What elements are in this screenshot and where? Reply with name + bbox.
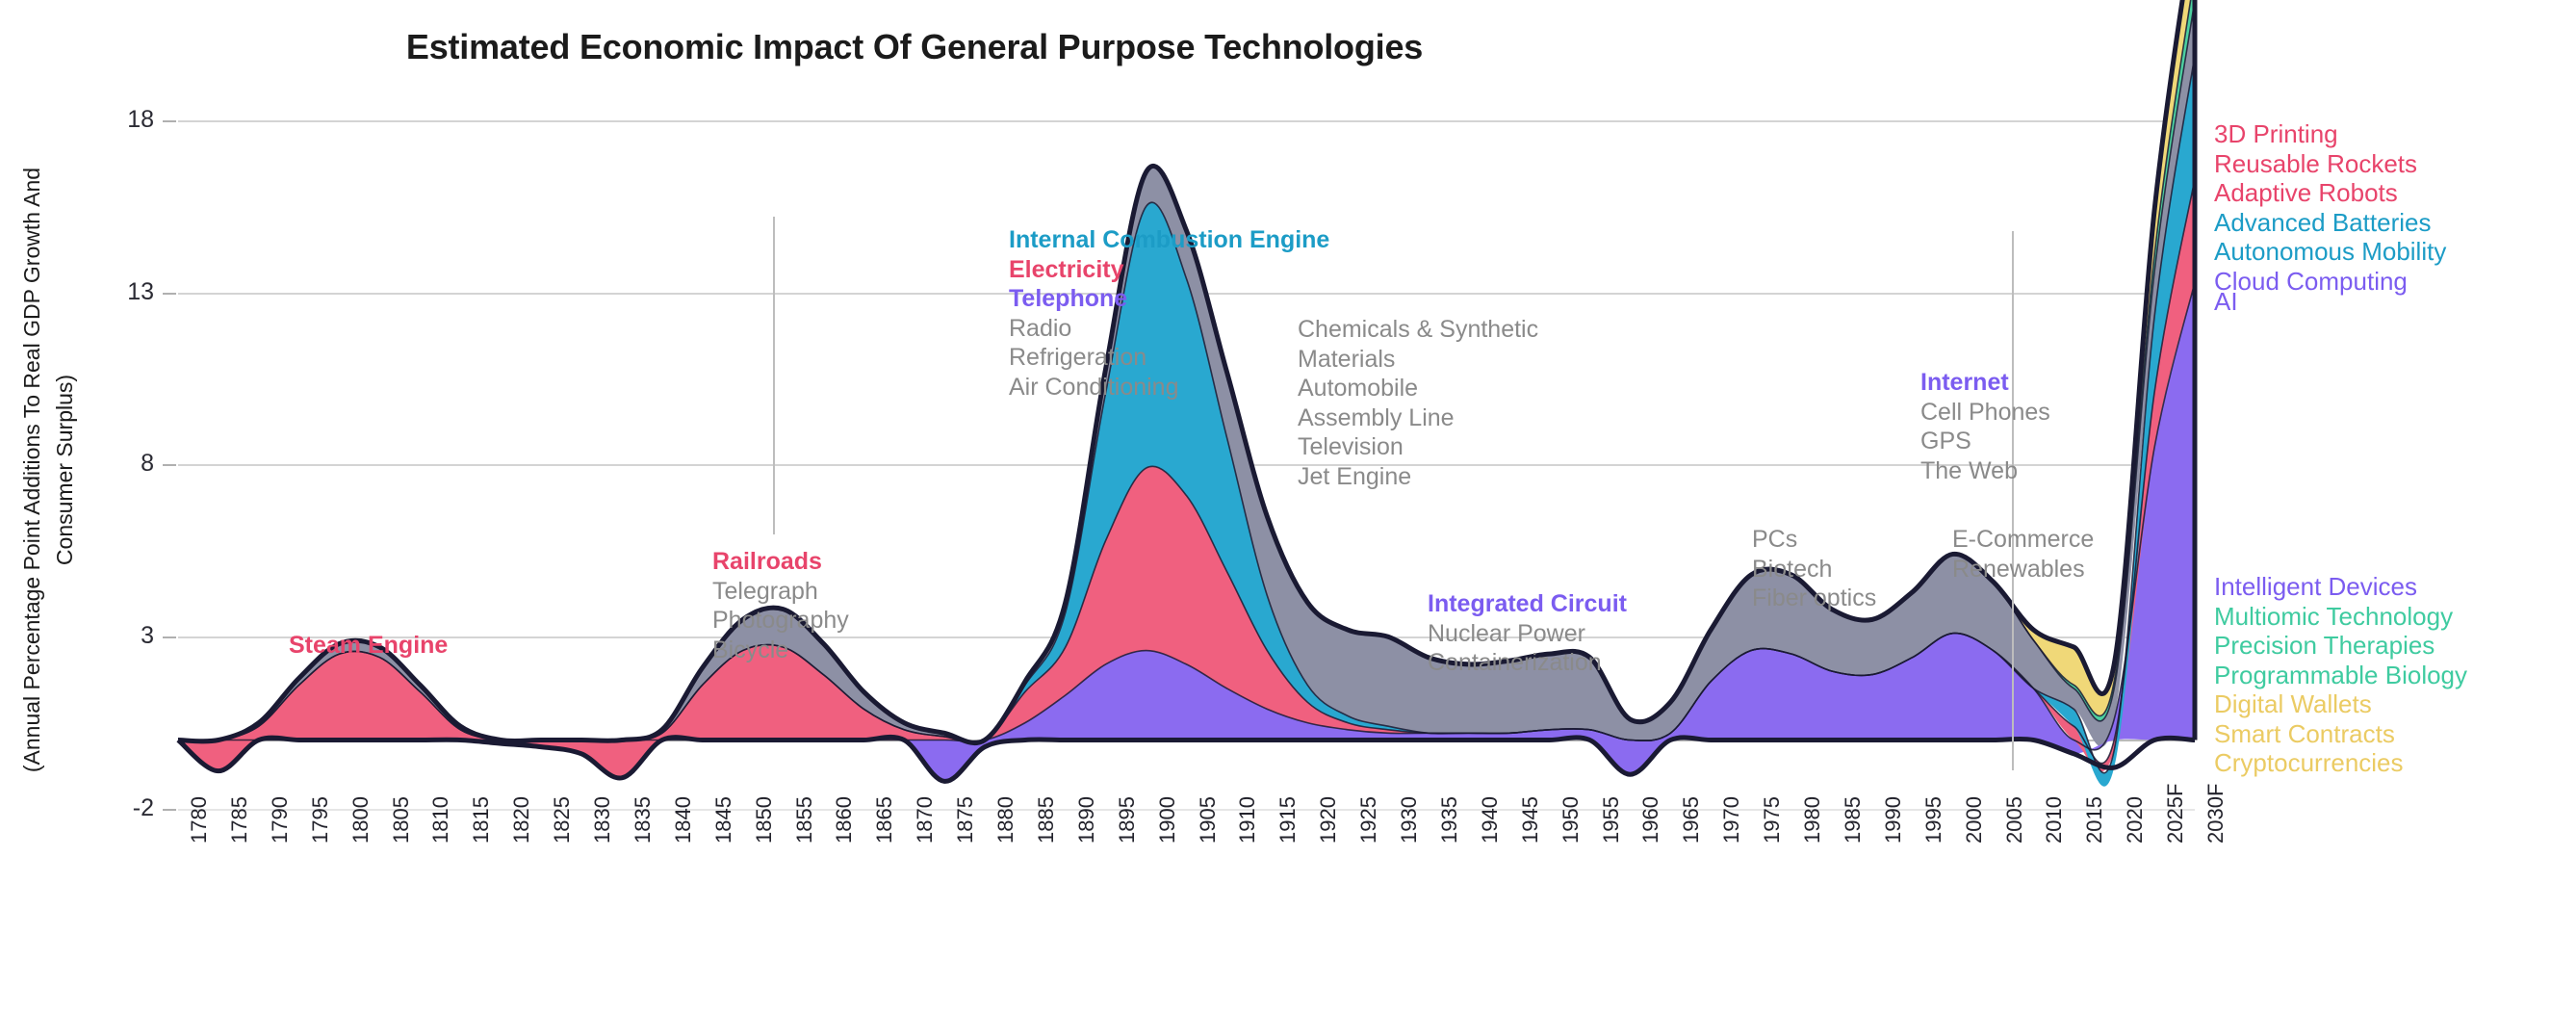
x-tick-1925: 1925 <box>1356 796 1381 844</box>
x-tick-1855: 1855 <box>792 796 817 844</box>
x-tick-1840: 1840 <box>671 796 696 844</box>
annotation-pcs: PCs Biotech Fiber optics <box>1752 525 1876 613</box>
annotation-internet: Internet Cell Phones GPS The Web <box>1920 368 2050 485</box>
annotation-chemicals-item-5: Jet Engine <box>1298 462 1538 492</box>
y-tick-13: 13 <box>87 278 154 306</box>
legend-item-multiomic-technology[interactable]: Multiomic Technology <box>2214 602 2467 632</box>
x-tick-1815: 1815 <box>469 796 494 844</box>
annotation-chemicals-item-3: Assembly Line <box>1298 403 1538 433</box>
annotation-railroads-item-1: Photography <box>712 606 849 636</box>
annotation-telephone-title: Telephone <box>1009 284 1329 314</box>
x-tick-1985: 1985 <box>1841 796 1866 844</box>
x-tick-1875: 1875 <box>953 796 978 844</box>
annotation-steam-engine: Steam Engine <box>289 631 448 661</box>
annotation-internet-title: Internet <box>1920 368 2050 398</box>
stacked-area-chart <box>178 120 2195 809</box>
x-tick-1800: 1800 <box>348 796 374 844</box>
annotation-ice-item-2: Air Conditioning <box>1009 373 1329 403</box>
x-tick-2000: 2000 <box>1962 796 1987 844</box>
x-tick-1850: 1850 <box>752 796 777 844</box>
divider-1915 <box>773 217 775 534</box>
annotation-chemicals-item-4: Television <box>1298 432 1538 462</box>
annotation-pcs-item-0: PCs <box>1752 525 1876 555</box>
x-tick-1920: 1920 <box>1316 796 1341 844</box>
x-tick-1890: 1890 <box>1074 796 1099 844</box>
x-tick-1935: 1935 <box>1437 796 1462 844</box>
legend-item-cloud-computing[interactable]: Cloud Computing <box>2214 267 2446 297</box>
x-tick-1965: 1965 <box>1679 796 1704 844</box>
x-tick-1940: 1940 <box>1478 796 1503 844</box>
annotation-internal-combustion: Internal Combustion Engine Electricity T… <box>1009 225 1329 402</box>
x-tick-1950: 1950 <box>1558 796 1584 844</box>
x-tick-1820: 1820 <box>509 796 534 844</box>
y-tick-8: 8 <box>87 450 154 478</box>
annotation-pcs-item-1: Biotech <box>1752 555 1876 584</box>
annotation-chemicals-item-2: Automobile <box>1298 374 1538 403</box>
plot-area <box>178 120 2195 809</box>
x-tick-1870: 1870 <box>913 796 938 844</box>
x-tick-1845: 1845 <box>711 796 736 844</box>
x-tick-1960: 1960 <box>1638 796 1663 844</box>
x-tick-2030F: 2030F <box>2203 784 2228 844</box>
annotation-railroads-item-0: Telegraph <box>712 577 849 607</box>
annotation-railroads: Railroads Telegraph Photography Bicycle <box>712 547 849 664</box>
x-tick-1915: 1915 <box>1275 796 1301 844</box>
y-tick-18: 18 <box>87 106 154 134</box>
legend-item-ai[interactable]: AI <box>2214 287 2238 317</box>
x-tick-1900: 1900 <box>1155 796 1180 844</box>
annotation-integrated-circuit: Integrated Circuit Nuclear Power Contain… <box>1428 589 1627 678</box>
x-tick-1905: 1905 <box>1196 796 1221 844</box>
annotation-internet-item-1: GPS <box>1920 427 2050 456</box>
y-tick-minus2: -2 <box>87 794 154 822</box>
annotation-chemicals-item-0: Chemicals & Synthetic <box>1298 315 1538 345</box>
x-tick-1945: 1945 <box>1518 796 1543 844</box>
annotation-railroads-title: Railroads <box>712 547 849 577</box>
x-tick-1780: 1780 <box>187 796 212 844</box>
x-tick-1930: 1930 <box>1397 796 1422 844</box>
x-tick-1880: 1880 <box>993 796 1018 844</box>
x-tick-1975: 1975 <box>1760 796 1785 844</box>
y-tick-dash-minus2 <box>163 809 176 811</box>
legend-top-group: 3D Printing Reusable Rockets Adaptive Ro… <box>2214 119 2446 296</box>
legend-item-smart-contracts[interactable]: Smart Contracts <box>2214 719 2467 749</box>
annotation-steam-engine-title: Steam Engine <box>289 631 448 661</box>
divider-2020 <box>2012 231 2014 770</box>
x-tick-1785: 1785 <box>227 796 252 844</box>
legend-item-3d-printing[interactable]: 3D Printing <box>2214 119 2446 149</box>
annotation-ic-item-0: Nuclear Power <box>1428 619 1627 649</box>
x-tick-1980: 1980 <box>1800 796 1825 844</box>
x-tick-1790: 1790 <box>268 796 293 844</box>
annotation-ic-item-1: Containerization <box>1428 648 1627 678</box>
x-tick-1810: 1810 <box>428 796 453 844</box>
legend-item-reusable-rockets[interactable]: Reusable Rockets <box>2214 149 2446 179</box>
annotation-ecommerce: E-Commerce Renewables <box>1952 525 2094 584</box>
annotation-internet-item-0: Cell Phones <box>1920 398 2050 428</box>
legend-item-precision-therapies[interactable]: Precision Therapies <box>2214 631 2467 661</box>
x-tick-1865: 1865 <box>872 796 897 844</box>
y-tick-3: 3 <box>87 622 154 650</box>
x-tick-2015: 2015 <box>2082 796 2107 844</box>
annotation-railroads-item-2: Bicycle <box>712 636 849 665</box>
x-tick-2020: 2020 <box>2123 796 2148 844</box>
x-tick-1885: 1885 <box>1034 796 1059 844</box>
annotation-integrated-circuit-title: Integrated Circuit <box>1428 589 1627 619</box>
y-tick-dash-3 <box>163 636 176 638</box>
x-tick-2005: 2005 <box>2002 796 2027 844</box>
x-tick-1970: 1970 <box>1719 796 1744 844</box>
x-tick-1990: 1990 <box>1881 796 1906 844</box>
y-axis-label: (Annual Percentage Point Additions To Re… <box>25 143 67 778</box>
annotation-chemicals-item-1: Materials <box>1298 345 1538 375</box>
legend-item-programmable-biology[interactable]: Programmable Biology <box>2214 661 2467 690</box>
x-tick-1910: 1910 <box>1235 796 1260 844</box>
x-tick-1895: 1895 <box>1115 796 1140 844</box>
annotation-internet-item-2: The Web <box>1920 456 2050 486</box>
legend-item-adaptive-robots[interactable]: Adaptive Robots <box>2214 178 2446 208</box>
y-tick-dash-13 <box>163 293 176 295</box>
x-tick-1995: 1995 <box>1921 796 1946 844</box>
y-axis-label-text: (Annual Percentage Point Additions To Re… <box>15 152 81 788</box>
annotation-ecommerce-item-0: E-Commerce <box>1952 525 2094 555</box>
annotation-pcs-item-2: Fiber optics <box>1752 584 1876 613</box>
x-tick-2010: 2010 <box>2042 796 2067 844</box>
legend-item-autonomous-mobility[interactable]: Autonomous Mobility <box>2214 237 2446 267</box>
y-tick-dash-18 <box>163 120 176 122</box>
annotation-ice-item-0: Radio <box>1009 314 1329 344</box>
x-tick-1795: 1795 <box>308 796 333 844</box>
x-axis-ticks: 1780178517901795180018051810181518201825… <box>178 840 2195 1008</box>
legend-mid-group: AI <box>2214 287 2238 317</box>
annotation-electricity-title: Electricity <box>1009 255 1329 285</box>
x-tick-1825: 1825 <box>550 796 575 844</box>
annotation-chemicals: Chemicals & Synthetic Materials Automobi… <box>1298 315 1538 491</box>
legend-item-advanced-batteries[interactable]: Advanced Batteries <box>2214 208 2446 238</box>
legend-item-cryptocurrencies[interactable]: Cryptocurrencies <box>2214 748 2467 778</box>
x-tick-2025F: 2025F <box>2163 784 2188 844</box>
x-tick-1805: 1805 <box>389 796 414 844</box>
legend-item-intelligent-devices[interactable]: Intelligent Devices <box>2214 572 2467 602</box>
x-tick-1835: 1835 <box>631 796 656 844</box>
y-tick-dash-8 <box>163 464 176 466</box>
annotation-ice-item-1: Refrigeration <box>1009 343 1329 373</box>
legend-bottom-group: Intelligent Devices Multiomic Technology… <box>2214 572 2467 778</box>
legend-item-digital-wallets[interactable]: Digital Wallets <box>2214 689 2467 719</box>
x-tick-1860: 1860 <box>832 796 857 844</box>
x-tick-1955: 1955 <box>1599 796 1624 844</box>
page-title: Estimated Economic Impact Of General Pur… <box>0 27 1829 67</box>
area-envelope-lower <box>178 737 2195 781</box>
annotation-ecommerce-item-1: Renewables <box>1952 555 2094 584</box>
annotation-ice-title: Internal Combustion Engine <box>1009 225 1329 255</box>
x-tick-1830: 1830 <box>590 796 615 844</box>
